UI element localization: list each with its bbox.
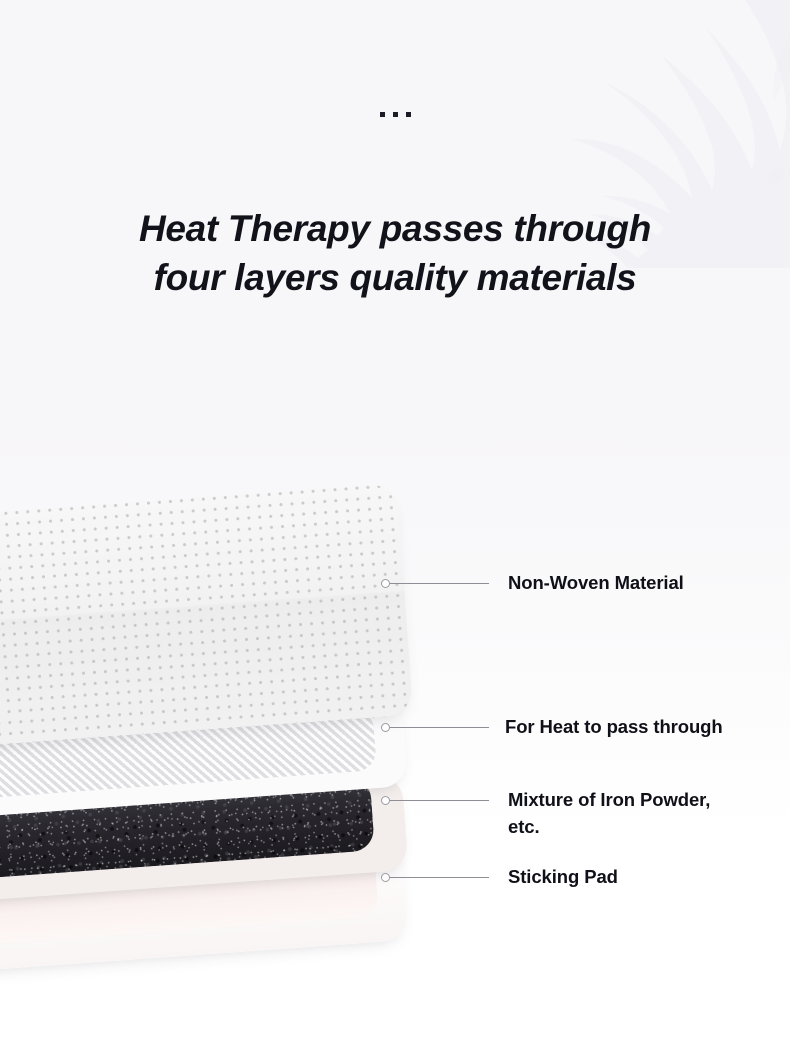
product-layer-non-woven xyxy=(0,483,413,767)
product-layer-iron-powder xyxy=(0,774,408,922)
callout-marker-icon xyxy=(381,796,390,805)
product-layer-heat-pass xyxy=(0,700,408,838)
callout-leader-line xyxy=(390,727,489,728)
callout-marker-icon xyxy=(381,873,390,882)
callout-marker-icon xyxy=(381,579,390,588)
infographic-page: Heat Therapy passes through four layers … xyxy=(0,0,790,1062)
callout-leader-line xyxy=(390,583,489,584)
callout-label: For Heat to pass through xyxy=(505,713,723,740)
heat-pass-surface xyxy=(0,708,377,820)
sticking-pad-surface xyxy=(0,846,379,966)
callout-marker-icon xyxy=(381,723,390,732)
dot-icon xyxy=(380,112,385,117)
iron-powder-surface xyxy=(0,776,375,900)
dots-ornament xyxy=(0,112,790,117)
dot-icon xyxy=(393,112,398,117)
callout-label: Non-Woven Material xyxy=(508,569,684,596)
product-layer-stack xyxy=(0,0,790,1062)
callout-label: Mixture of Iron Powder, etc. xyxy=(508,786,710,840)
page-title: Heat Therapy passes through four layers … xyxy=(0,204,790,302)
callout-leader-line xyxy=(390,877,489,878)
callout-leader-line xyxy=(390,800,489,801)
callout-label: Sticking Pad xyxy=(508,863,618,890)
product-layer-sticking-pad xyxy=(0,840,409,992)
dot-icon xyxy=(406,112,411,117)
